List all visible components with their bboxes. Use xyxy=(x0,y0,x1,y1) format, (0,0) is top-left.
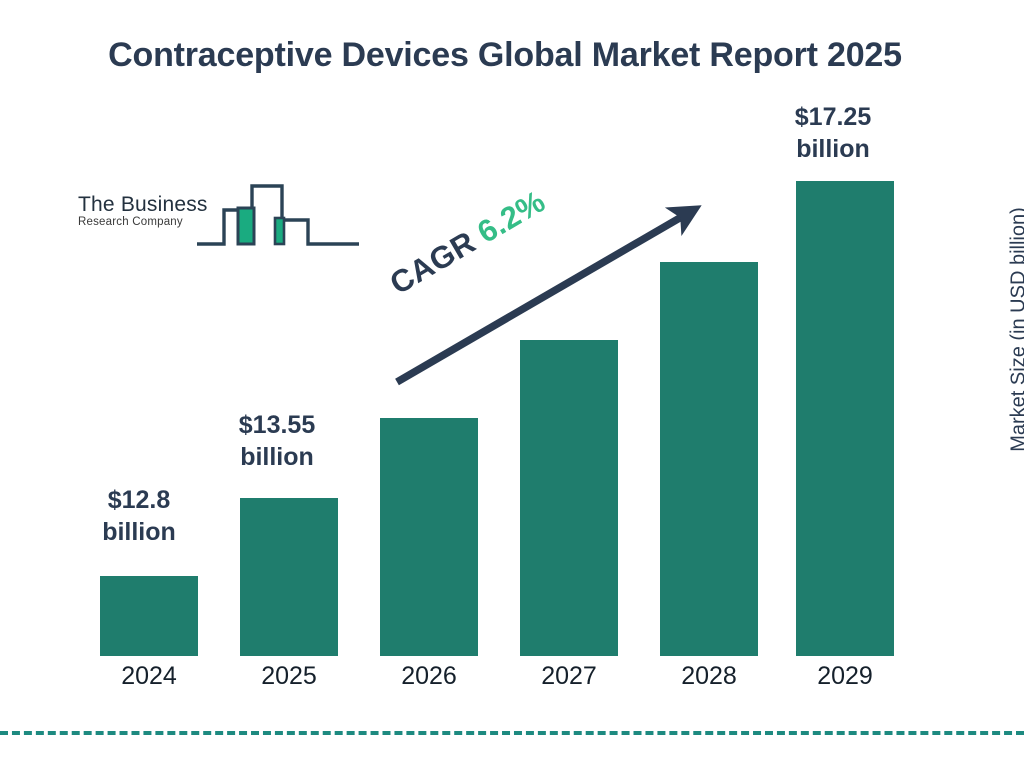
value-label-2029: $17.25 billion xyxy=(768,101,898,165)
footer-divider xyxy=(0,731,1024,735)
value-label-2025: $13.55 billion xyxy=(212,409,342,473)
value-label-2025-amount: $13.55 xyxy=(239,411,315,439)
bar-2026 xyxy=(380,418,478,656)
bar-2025 xyxy=(240,498,338,656)
x-tick-label-2025: 2025 xyxy=(229,662,349,691)
x-tick-label-2029: 2029 xyxy=(785,662,905,691)
x-tick-label-2028: 2028 xyxy=(649,662,769,691)
bar-chart-plot-area: 2024 2025 2026 2027 2028 2029 $12.8 bill… xyxy=(0,0,1024,768)
bar-2024 xyxy=(100,576,198,656)
value-label-2024: $12.8 billion xyxy=(74,484,204,548)
value-label-2024-unit: billion xyxy=(102,518,176,546)
value-label-2029-unit: billion xyxy=(796,135,870,163)
value-label-2024-amount: $12.8 xyxy=(108,486,171,514)
value-label-2025-unit: billion xyxy=(240,443,314,471)
cagr-trend-arrow-icon xyxy=(380,190,720,400)
x-tick-label-2024: 2024 xyxy=(89,662,209,691)
chart-canvas: Contraceptive Devices Global Market Repo… xyxy=(0,0,1024,768)
x-tick-label-2027: 2027 xyxy=(509,662,629,691)
x-tick-label-2026: 2026 xyxy=(369,662,489,691)
bar-2029 xyxy=(796,181,894,656)
value-label-2029-amount: $17.25 xyxy=(795,103,871,131)
y-axis-title: Market Size (in USD billion) xyxy=(1008,170,1024,490)
